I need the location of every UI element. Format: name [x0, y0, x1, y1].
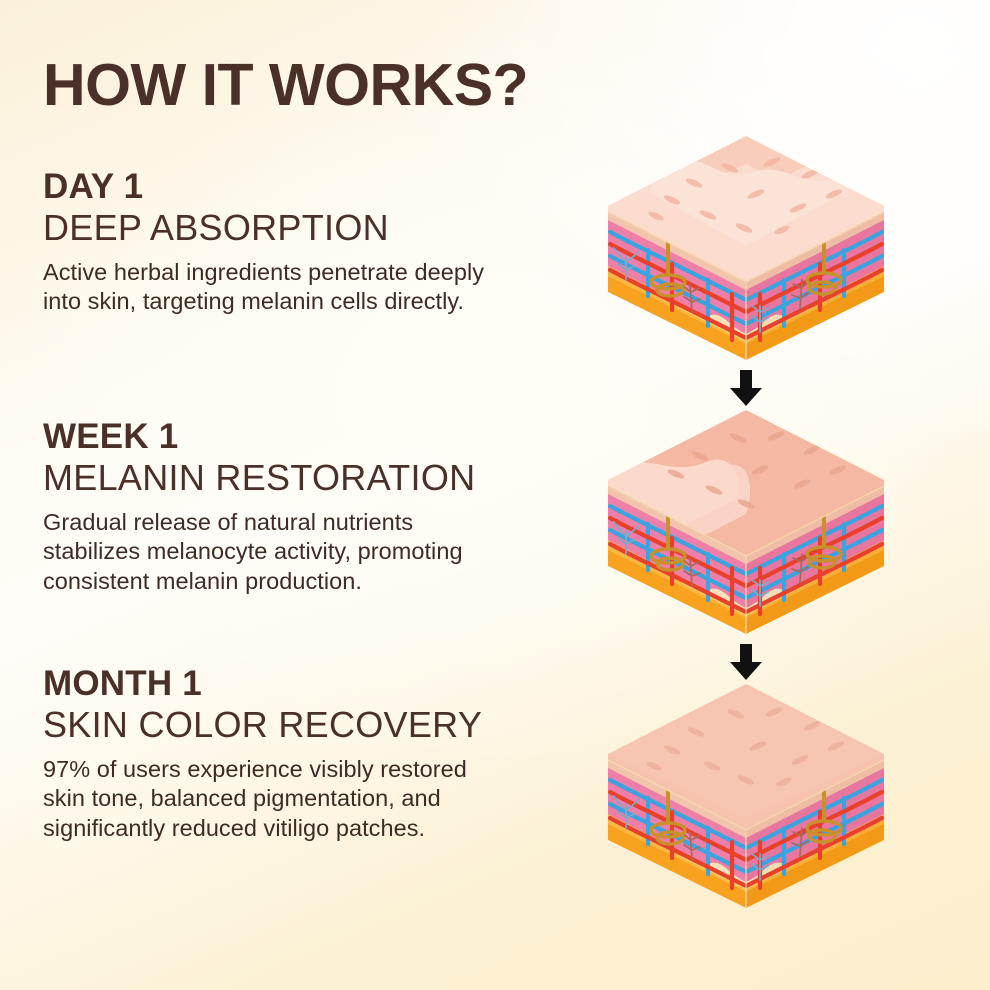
text-column: HOW IT WORKS? DAY 1 DEEP ABSORPTION Acti…: [40, 0, 570, 990]
step-day-1: DAY 1 DEEP ABSORPTION Active herbal ingr…: [43, 168, 570, 317]
step-2-headline: MELANIN RESTORATION: [43, 457, 570, 499]
skin-cross-section-icon-month-1: [596, 668, 896, 918]
step-2-period: WEEK 1: [43, 418, 570, 455]
step-1-period: DAY 1: [43, 168, 570, 205]
step-3-body-line-3: significantly reduced vitiligo patches.: [43, 814, 563, 844]
step-3-period: MONTH 1: [43, 665, 570, 702]
skin-cross-section-icon-week-1: [596, 394, 896, 644]
infographic-page: HOW IT WORKS? DAY 1 DEEP ABSORPTION Acti…: [0, 0, 990, 990]
step-3-body-line-2: skin tone, balanced pigmentation, and: [43, 784, 563, 814]
step-week-1: WEEK 1 MELANIN RESTORATION Gradual relea…: [43, 418, 570, 597]
step-1-body-line-1: Active herbal ingredients penetrate deep…: [43, 258, 563, 288]
step-3-body-line-1: 97% of users experience visibly restored: [43, 755, 563, 785]
step-3-body: 97% of users experience visibly restored…: [43, 755, 563, 845]
illustration-column: [596, 0, 896, 990]
step-2-body-line-2: stabilizes melanocyte activity, promotin…: [43, 537, 563, 567]
step-month-1: MONTH 1 SKIN COLOR RECOVERY 97% of users…: [43, 665, 570, 844]
step-2-body-line-3: consistent melanin production.: [43, 567, 563, 597]
step-1-body: Active herbal ingredients penetrate deep…: [43, 258, 563, 318]
step-3-headline: SKIN COLOR RECOVERY: [43, 704, 570, 746]
step-2-body-line-1: Gradual release of natural nutrients: [43, 508, 563, 538]
step-1-body-line-2: into skin, targeting melanin cells direc…: [43, 287, 563, 317]
page-title: HOW IT WORKS?: [43, 56, 528, 115]
skin-cross-section-icon-day-1: [596, 120, 896, 370]
step-1-headline: DEEP ABSORPTION: [43, 207, 570, 249]
step-2-body: Gradual release of natural nutrients sta…: [43, 508, 563, 598]
